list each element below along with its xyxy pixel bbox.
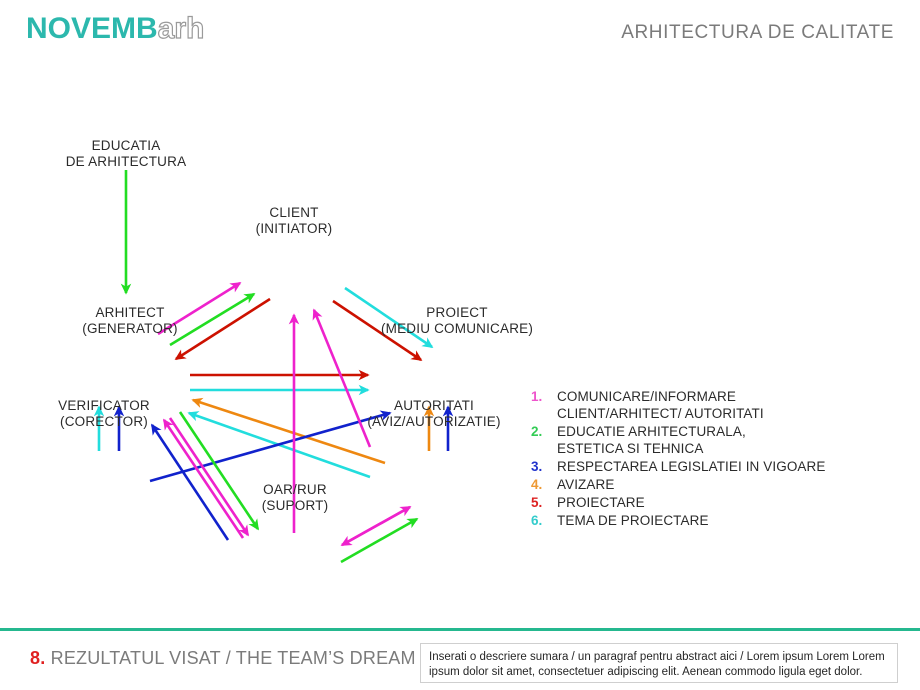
logo-secondary-text: arh [158, 12, 205, 45]
legend-item: 1.COMUNICARE/INFORMARE CLIENT/ARHITECT/ … [531, 388, 891, 422]
diagram-node-arhitect: ARHITECT(GENERATOR) [20, 305, 240, 337]
header-title: ARHITECTURA DE CALITATE [621, 22, 894, 44]
legend-item-number: 5. [531, 494, 557, 511]
node-label-line1: OAR/RUR [185, 482, 405, 498]
legend-item: 5.PROIECTARE [531, 494, 891, 511]
brand-logo: NOVEMBarh [26, 12, 204, 46]
node-label-line2: DE ARHITECTURA [16, 154, 236, 170]
legend-item-number: 1. [531, 388, 557, 405]
legend-item-number: 4. [531, 476, 557, 493]
footer-divider [0, 628, 920, 631]
legend-item-text: EDUCATIE ARHITECTURALA, ESTETICA SI TEHN… [557, 423, 746, 457]
page-header: NOVEMBarh ARHITECTURA DE CALITATE [0, 0, 920, 62]
legend-item: 4.AVIZARE [531, 476, 891, 493]
node-label-line1: EDUCATIA [16, 138, 236, 154]
footer-abstract-text: Inserati o descriere sumara / un paragra… [429, 650, 889, 680]
node-label-line1: CLIENT [184, 205, 404, 221]
legend-item-text: PROIECTARE [557, 494, 645, 511]
footer-section-title: 8. REZULTATUL VISAT / THE TEAM’S DREAM [30, 648, 416, 669]
node-label-line2: (CORECTOR) [0, 414, 214, 430]
arrow-oar-to-arhitect-magenta [164, 420, 243, 538]
diagram-node-educatie: EDUCATIADE ARHITECTURA [16, 138, 236, 170]
arrow-arhitect-to-oar-magenta [170, 418, 248, 535]
legend-item-text: AVIZARE [557, 476, 614, 493]
diagram-node-oar: OAR/RUR(SUPORT) [185, 482, 405, 514]
legend-item-text: RESPECTAREA LEGISLATIEI IN VIGOARE [557, 458, 825, 475]
node-label-line2: (MEDIU COMUNICARE) [347, 321, 567, 337]
node-label-line2: (GENERATOR) [20, 321, 240, 337]
node-label-line1: PROIECT [347, 305, 567, 321]
legend-item-number: 2. [531, 423, 557, 440]
diagram-node-autoritati: AUTORITATI(AVIZ/AUTORIZATIE) [324, 398, 544, 430]
node-label-line1: ARHITECT [20, 305, 240, 321]
legend-item: 3.RESPECTAREA LEGISLATIEI IN VIGOARE [531, 458, 891, 475]
legend-item-number: 6. [531, 512, 557, 529]
legend-item-number: 3. [531, 458, 557, 475]
node-label-line1: VERIFICATOR [0, 398, 214, 414]
legend-item-text: TEMA DE PROIECTARE [557, 512, 709, 529]
node-label-line2: (SUPORT) [185, 498, 405, 514]
legend-item-text: COMUNICARE/INFORMARE CLIENT/ARHITECT/ AU… [557, 388, 764, 422]
legend-item: 6.TEMA DE PROIECTARE [531, 512, 891, 529]
footer-abstract-box: Inserati o descriere sumara / un paragra… [420, 643, 898, 683]
diagram-legend: 1.COMUNICARE/INFORMARE CLIENT/ARHITECT/ … [531, 388, 891, 530]
footer-section-label: REZULTATUL VISAT / THE TEAM’S DREAM [45, 648, 415, 668]
legend-item: 2.EDUCATIE ARHITECTURALA, ESTETICA SI TE… [531, 423, 891, 457]
diagram-node-client: CLIENT(INITIATOR) [184, 205, 404, 237]
diagram-node-verificator: VERIFICATOR(CORECTOR) [0, 398, 214, 430]
logo-primary-text: NOVEMB [26, 12, 158, 45]
node-label-line2: (INITIATOR) [184, 221, 404, 237]
node-label-line1: AUTORITATI [324, 398, 544, 414]
diagram-node-proiect: PROIECT(MEDIU COMUNICARE) [347, 305, 567, 337]
node-label-line2: (AVIZ/AUTORIZATIE) [324, 414, 544, 430]
footer-section-number: 8. [30, 648, 45, 668]
